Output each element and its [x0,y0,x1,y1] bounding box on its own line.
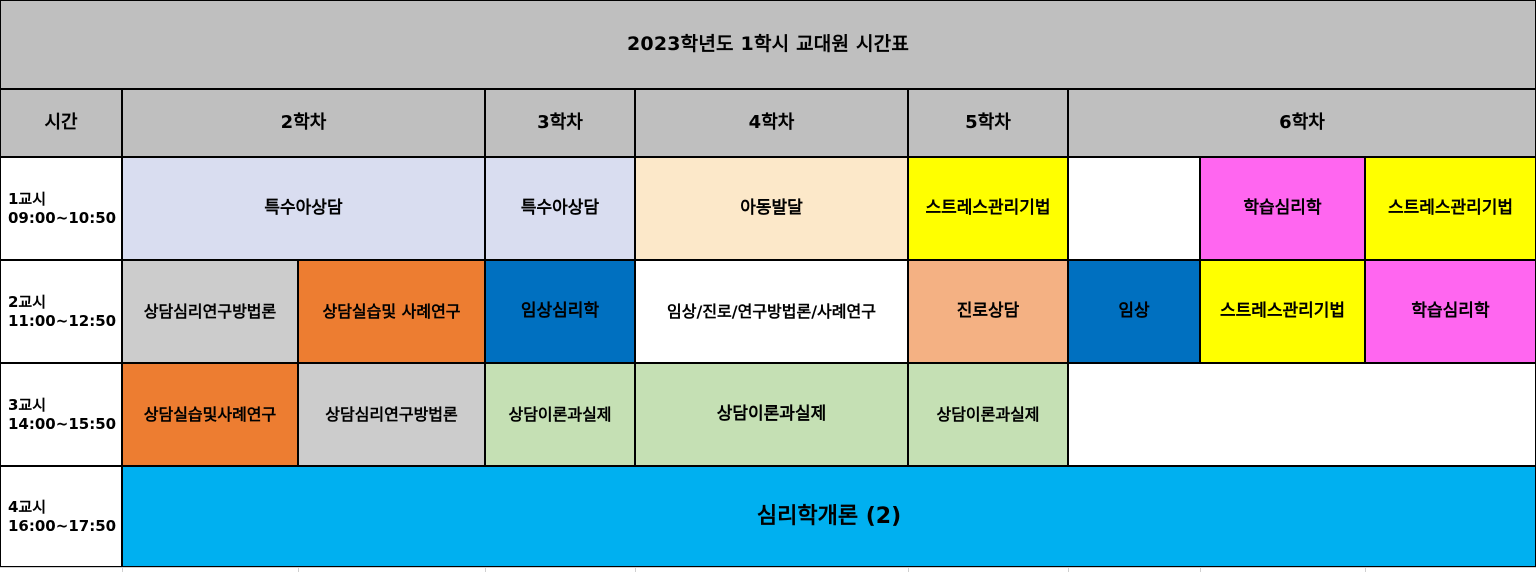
sheet-gridline-v3 [485,567,486,572]
course-cell-p3-c1[interactable]: 상담실습및사례연구 [122,363,298,466]
course-cell-p1-c4[interactable]: 스트레스관리기법 [908,157,1068,260]
course-cell-p3-c4[interactable]: 상담이론과실제 [635,363,908,466]
period-label-2: 2교시 11:00~12:50 [0,260,122,363]
header-time-label: 시간 [0,89,122,157]
course-cell-p2-c2[interactable]: 상담실습및 사례연구 [298,260,485,363]
course-cell-p1-c2[interactable]: 특수아상담 [485,157,635,260]
period-label-4: 4교시 16:00~17:50 [0,466,122,567]
course-cell-p3-c2[interactable]: 상담심리연구방법론 [298,363,485,466]
sheet-gridline-v7 [1200,567,1201,572]
sheet-gridline-v5 [908,567,909,572]
header-column-5hakcha: 5학차 [908,89,1068,157]
course-cell-p2-c3[interactable]: 임상심리학 [485,260,635,363]
course-cell-p1-c3[interactable]: 아동발달 [635,157,908,260]
course-cell-p4-c1[interactable]: 심리학개론 (2) [122,466,1536,567]
sheet-gridline-horizontal [0,567,1536,568]
course-cell-p2-c7[interactable]: 스트레스관리기법 [1200,260,1365,363]
course-cell-p2-c6[interactable]: 임상 [1068,260,1200,363]
header-column-2hakcha: 2학차 [122,89,485,157]
course-cell-p2-c8[interactable]: 학습심리학 [1365,260,1536,363]
sheet-gridline-v1 [122,567,123,572]
sheet-gridline-v6 [1068,567,1069,572]
course-cell-p1-c1[interactable]: 특수아상담 [122,157,485,260]
sheet-gridline-v4 [635,567,636,572]
course-cell-p3-c3[interactable]: 상담이론과실제 [485,363,635,466]
course-cell-p1-c6[interactable]: 학습심리학 [1200,157,1365,260]
course-cell-p2-c5[interactable]: 진로상담 [908,260,1068,363]
header-column-6hakcha: 6학차 [1068,89,1536,157]
course-cell-p2-c4[interactable]: 임상/진로/연구방법론/사례연구 [635,260,908,363]
course-cell-p1-c7[interactable]: 스트레스관리기법 [1365,157,1536,260]
timetable-title: 2023학년도 1학시 교대원 시간표 [0,0,1536,89]
period-label-1: 1교시 09:00~10:50 [0,157,122,260]
course-cell-p1-c5-empty[interactable] [1068,157,1200,260]
header-column-4hakcha: 4학차 [635,89,908,157]
header-column-3hakcha: 3학차 [485,89,635,157]
course-cell-p2-c1[interactable]: 상담심리연구방법론 [122,260,298,363]
course-cell-p3-c5[interactable]: 상담이론과실제 [908,363,1068,466]
sheet-gridline-v2 [298,567,299,572]
timetable: 2023학년도 1학시 교대원 시간표 시간 2학차 3학차 4학차 5학차 6… [0,0,1536,572]
sheet-gridline-v8 [1365,567,1366,572]
period-label-3: 3교시 14:00~15:50 [0,363,122,466]
course-cell-p3-c6-empty[interactable] [1068,363,1536,466]
